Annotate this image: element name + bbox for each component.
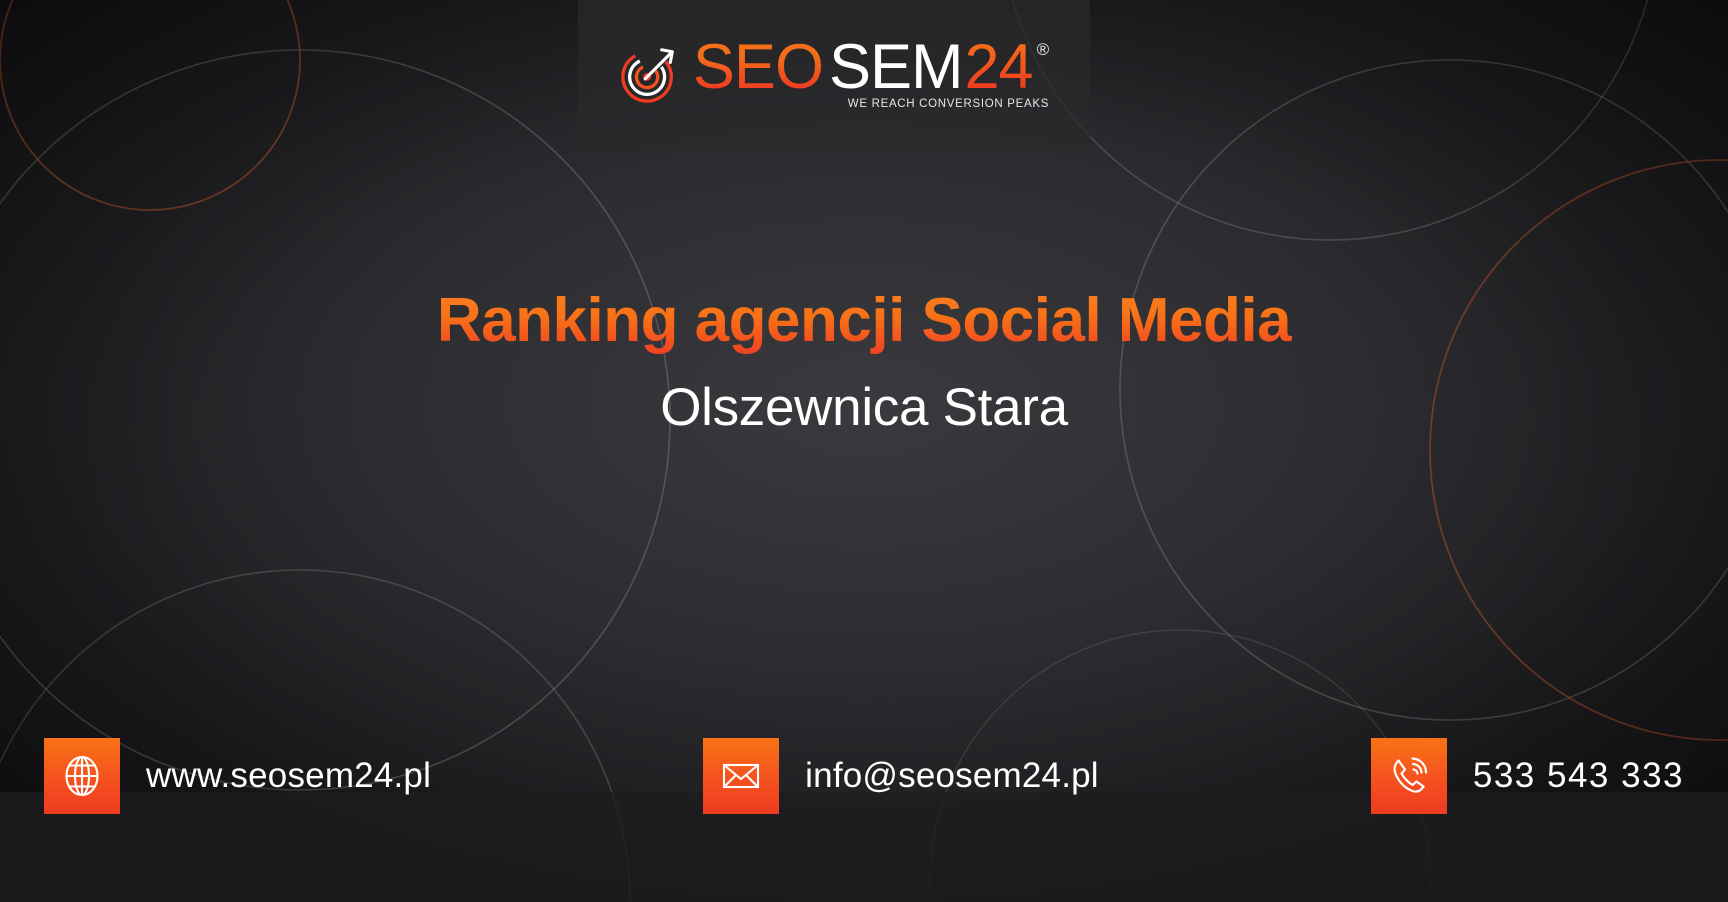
slide-center-block: Ranking agencji Social Media Olszewnica … [0,286,1728,438]
registered-trademark-symbol: ® [1037,42,1050,58]
logo-right-block: SEM 24 ® WE REACH CONVERSION PEAKS [829,38,1049,111]
slide-subtitle: Olszewnica Stara [0,379,1728,437]
email-label: info@seosem24.pl [805,756,1099,796]
logo-wordmark: SEO SEM 24 ® WE REACH CONVERSION PEAKS [693,38,1049,111]
presentation-slide: SEO SEM 24 ® WE REACH CONVERSION PEAKS R… [0,0,1728,902]
phone-ringing-icon [1371,738,1447,814]
contact-website[interactable]: www.seosem24.pl [44,738,431,814]
logo-24-text: 24 [964,38,1032,98]
footer-contacts: www.seosem24.pl info@seosem24.pl [0,706,1728,902]
website-label: www.seosem24.pl [146,756,431,796]
globe-icon [44,738,120,814]
logo-plate: SEO SEM 24 ® WE REACH CONVERSION PEAKS [578,0,1090,152]
logo-seo-text: SEO [693,38,823,98]
logo-sem-text: SEM [829,38,963,98]
contact-email[interactable]: info@seosem24.pl [703,738,1099,814]
slide-title: Ranking agencji Social Media [0,286,1728,355]
logo-tagline: WE REACH CONVERSION PEAKS [829,98,1049,110]
target-arrow-icon [619,43,681,105]
seosem24-logo: SEO SEM 24 ® WE REACH CONVERSION PEAKS [619,38,1049,111]
envelope-icon [703,738,779,814]
phone-label: 533 543 333 [1473,756,1684,796]
logo-sem-row: SEM 24 ® [829,38,1049,98]
contact-phone[interactable]: 533 543 333 [1371,738,1684,814]
